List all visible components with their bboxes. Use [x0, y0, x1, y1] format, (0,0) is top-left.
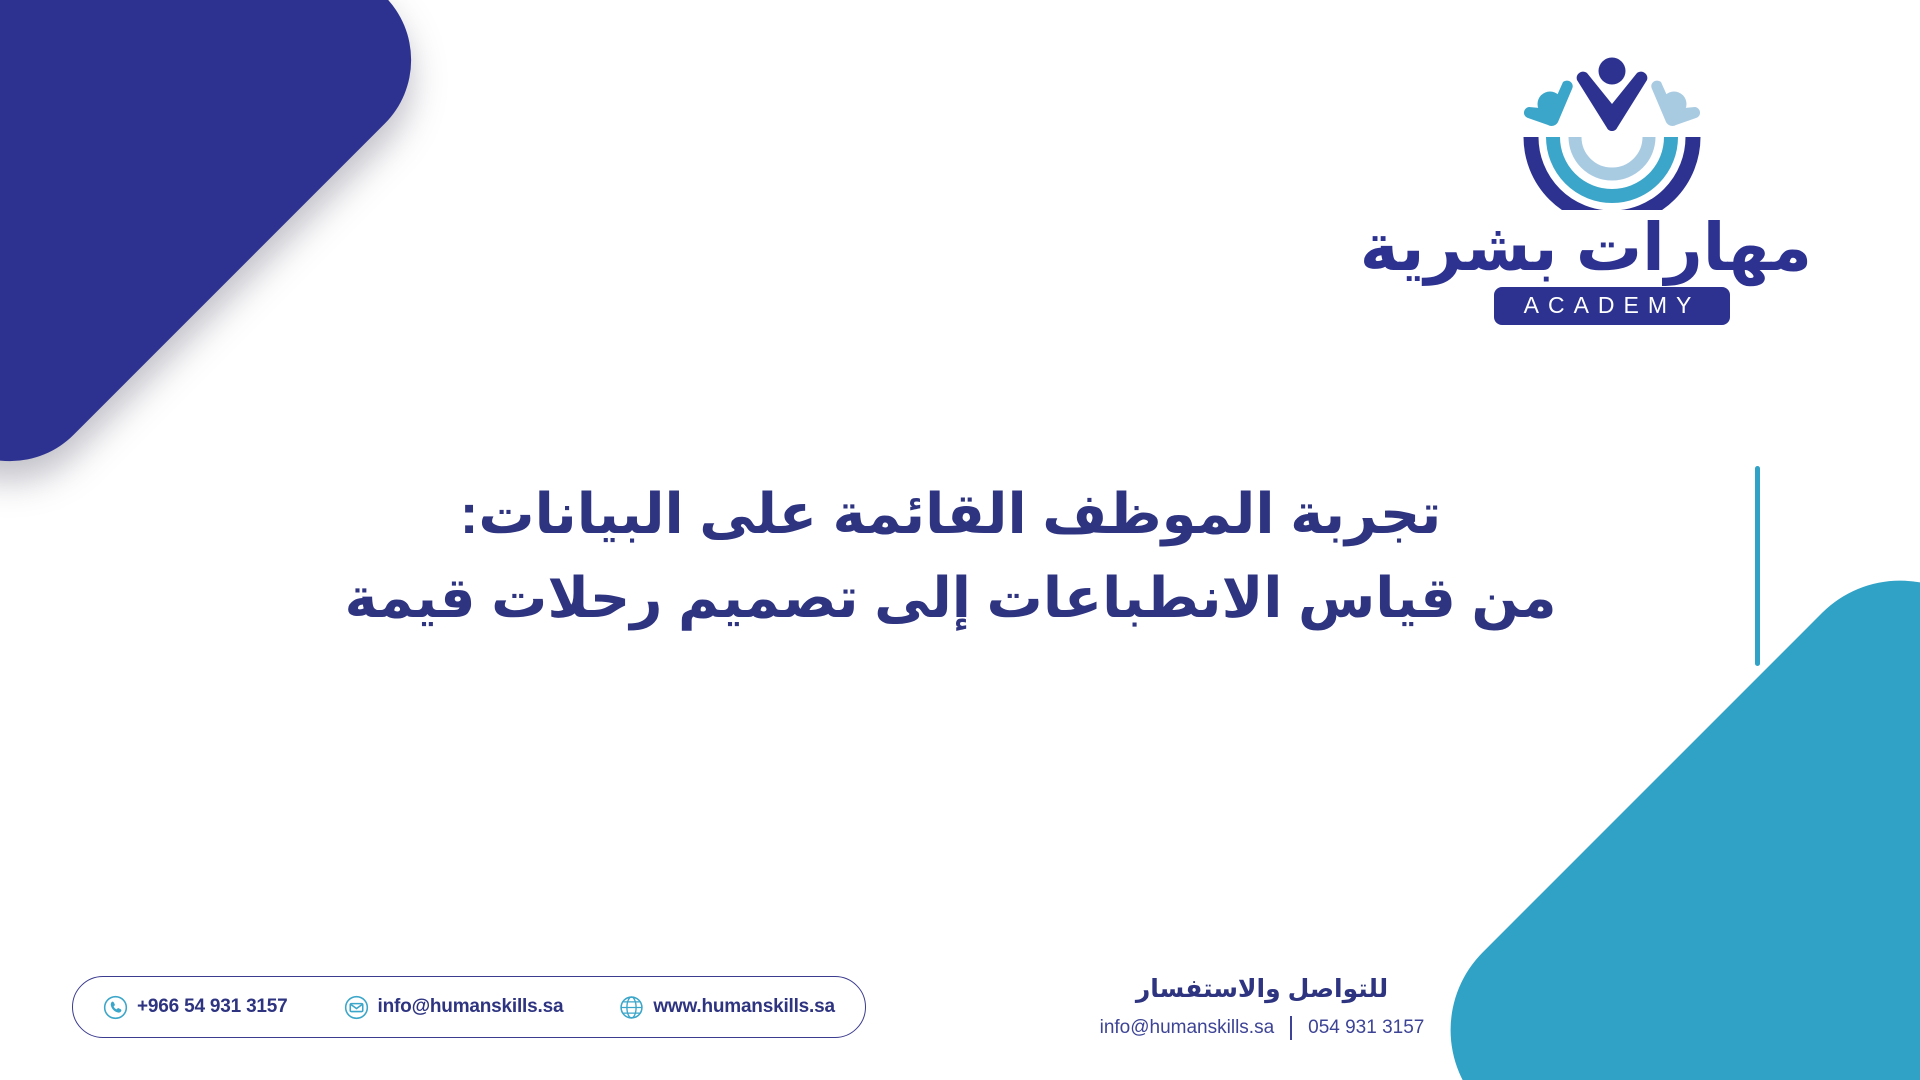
globe-icon [619, 995, 644, 1020]
contact-item-phone[interactable]: +966 54 931 3157 [103, 995, 288, 1020]
contact-item-email[interactable]: info@humanskills.sa [344, 995, 564, 1020]
footer-heading: للتواصل والاستفسار [1072, 974, 1452, 1004]
title-area: تجربة الموظف القائمة على البيانات: من قي… [120, 466, 1760, 666]
footer-contact: للتواصل والاستفسار info@humanskills.sa 0… [1072, 974, 1452, 1040]
academy-badge: ACADEMY [1494, 287, 1731, 325]
footer-email[interactable]: info@humanskills.sa [1100, 1017, 1275, 1039]
page-title-line-1: تجربة الموظف القائمة على البيانات: [180, 472, 1721, 556]
footer-details: info@humanskills.sa 054 931 3157 [1072, 1016, 1452, 1040]
contact-item-website[interactable]: www.humanskills.sa [619, 995, 835, 1020]
academy-emblem-icon [1517, 52, 1707, 210]
page-title: تجربة الموظف القائمة على البيانات: من قي… [120, 466, 1721, 666]
brand-wordmark: مهارات بشرية [1412, 214, 1812, 281]
title-slide: مهارات بشرية ACADEMY تجربة الموظف القائم… [0, 0, 1920, 1080]
contact-website-label: www.humanskills.sa [653, 996, 835, 1018]
decor-shape-top-left [0, 0, 448, 498]
page-title-line-2: من قياس الانطباعات إلى تصميم رحلات قيمة [180, 556, 1721, 640]
contact-phone-label: +966 54 931 3157 [137, 996, 288, 1018]
contact-email-label: info@humanskills.sa [378, 996, 564, 1018]
phone-icon [103, 995, 128, 1020]
envelope-icon [344, 995, 369, 1020]
footer-phone[interactable]: 054 931 3157 [1308, 1017, 1424, 1039]
brand-logo: مهارات بشرية ACADEMY [1412, 52, 1812, 325]
title-accent-rule [1755, 466, 1760, 666]
footer-separator [1290, 1016, 1292, 1040]
contact-bar: +966 54 931 3157 info@humanskills.sa www… [72, 976, 866, 1038]
